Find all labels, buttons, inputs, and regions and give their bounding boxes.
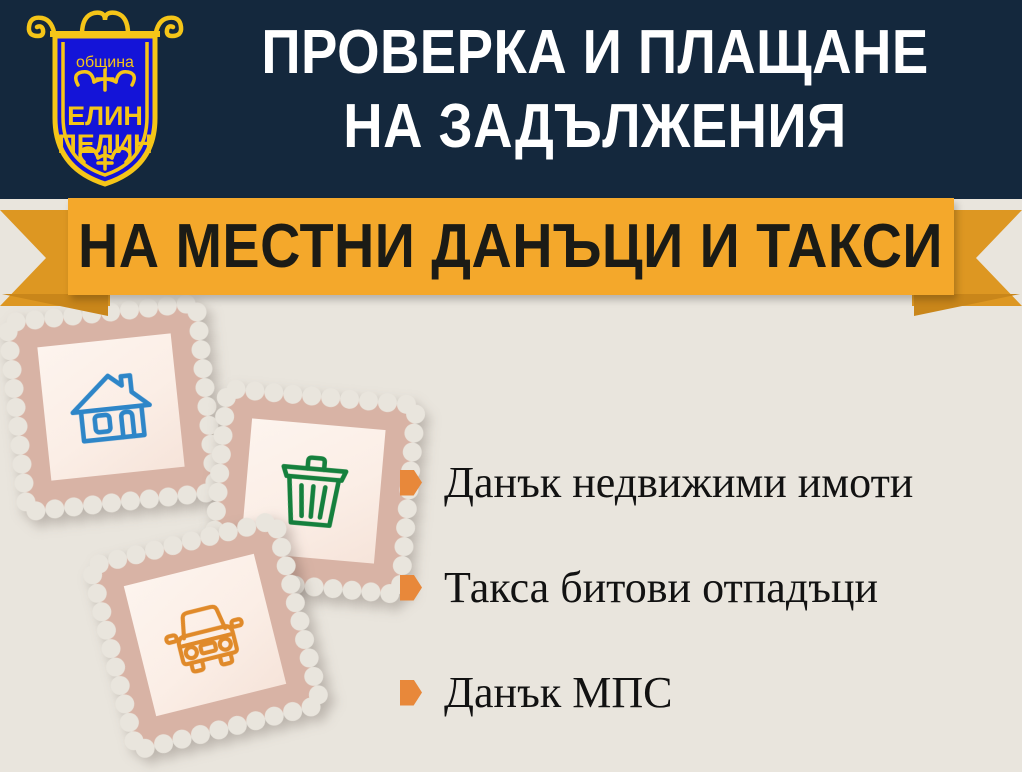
- stamp-perforation: [143, 538, 166, 561]
- list-item[interactable]: Данък недвижими имоти: [400, 430, 1010, 535]
- stamp-perforation: [288, 610, 311, 633]
- house-icon: [60, 356, 161, 457]
- stamp-perforation: [108, 674, 131, 697]
- stamp-perforation: [124, 543, 147, 566]
- stamp-perforation: [117, 711, 140, 734]
- stamp-perforation: [113, 693, 136, 716]
- stamp-perforation: [358, 390, 379, 411]
- stamp-perforation: [82, 494, 103, 515]
- stamp-perforation: [302, 385, 323, 406]
- stamp-perforation: [264, 382, 285, 403]
- arrow-bullet-icon: [400, 680, 422, 706]
- list-item[interactable]: Данък МПС: [400, 640, 1010, 745]
- arrow-bullet-icon: [400, 575, 422, 601]
- property-stamp-card: [7, 303, 216, 512]
- stamp-perforation: [104, 656, 127, 679]
- arrow-bullet-icon: [400, 470, 422, 496]
- stamp-perforation: [192, 358, 213, 379]
- stamp-perforation: [161, 534, 184, 557]
- stamp-perforation: [90, 600, 113, 623]
- ribbon-banner: НА МЕСТНИ ДАНЪЦИ И ТАКСИ: [68, 198, 954, 295]
- stamp-perforation: [139, 488, 160, 509]
- stamp-perforation: [170, 727, 193, 750]
- stamp-perforation: [342, 579, 363, 600]
- stamp-perforation: [302, 665, 325, 688]
- stamp-perforation: [226, 713, 249, 736]
- stamp-perforation: [5, 397, 26, 418]
- stamp-perforation: [3, 378, 24, 399]
- stamp-perforation: [207, 718, 230, 741]
- stamp-perforation: [216, 387, 237, 408]
- stamp-perforation: [85, 582, 108, 605]
- stamp-perforation: [158, 486, 179, 507]
- stamp-perforation: [152, 732, 175, 755]
- stamp-perforation: [194, 377, 215, 398]
- stamp-perforation: [377, 392, 398, 413]
- stamp-perforation: [9, 435, 30, 456]
- list-item-label: Данък недвижими имоти: [444, 459, 913, 507]
- header-bar: община ЕЛИН ПЕЛИН: [0, 0, 1022, 199]
- municipality-crest-logo: община ЕЛИН ПЕЛИН: [22, 6, 188, 192]
- title-line-1: ПРОВЕРКА И ПЛАЩАНЕ: [239, 16, 952, 90]
- vehicle-stamp-card: [90, 520, 320, 750]
- stamp-perforation: [0, 340, 20, 361]
- stamp-perforation: [99, 637, 122, 660]
- stamp-perforation: [177, 484, 198, 505]
- crest-name-line-1: ЕЛИН: [67, 101, 143, 131]
- poster-title: ПРОВЕРКА И ПЛАЩАНЕ НА ЗАДЪЛЖЕНИЯ: [190, 16, 1000, 164]
- stamp-perforation: [11, 454, 32, 475]
- car-icon: [149, 579, 261, 691]
- stamp-perforation: [320, 387, 341, 408]
- subtitle-ribbon: НА МЕСТНИ ДАНЪЦИ И ТАКСИ: [0, 198, 1022, 308]
- stamp-perforation: [106, 547, 129, 570]
- stamp-perforation: [120, 490, 141, 511]
- stamp-perforation: [189, 723, 212, 746]
- stamp-perforation: [244, 709, 267, 732]
- stamp-perforation: [293, 628, 316, 651]
- stamp-perforation: [13, 473, 34, 494]
- stamp-perforation: [180, 529, 203, 552]
- stamp-inner-face: [37, 333, 184, 480]
- stamp-perforation: [361, 581, 382, 602]
- ribbon-label: НА МЕСТНИ ДАНЪЦИ И ТАКСИ: [79, 216, 944, 278]
- stamp-perforation: [283, 384, 304, 405]
- stamp-perforation: [263, 704, 286, 727]
- stamp-perforation: [339, 389, 360, 410]
- stamp-perforation: [1, 359, 22, 380]
- title-line-2: НА ЗАДЪЛЖЕНИЯ: [239, 90, 952, 164]
- stamp-perforation: [304, 576, 325, 597]
- stamp-perforation: [44, 498, 65, 519]
- list-item-label: Данък МПС: [444, 669, 672, 717]
- poster-canvas: община ЕЛИН ПЕЛИН: [0, 0, 1022, 772]
- stamp-perforation: [43, 307, 64, 328]
- stamp-perforation: [94, 619, 117, 642]
- stamp-perforation: [245, 380, 266, 401]
- list-item[interactable]: Такса битови отпадъци: [400, 535, 1010, 640]
- stamp-perforation: [323, 578, 344, 599]
- stamp-perforation: [7, 416, 28, 437]
- stamp-perforation: [188, 320, 209, 341]
- stamp-perforation: [283, 591, 306, 614]
- stamp-perforation: [297, 647, 320, 670]
- stamp-perforation: [196, 396, 217, 417]
- stamp-perforation: [0, 321, 18, 342]
- stamp-perforation: [281, 700, 304, 723]
- stamp-perforation: [206, 501, 227, 522]
- stamp-perforation: [101, 492, 122, 513]
- list-item-label: Такса битови отпадъци: [444, 564, 878, 612]
- stamp-perforation: [190, 339, 211, 360]
- stamp-perforation: [24, 309, 45, 330]
- stamp-perforation: [63, 496, 84, 517]
- tax-type-list: Данък недвижими имоти Такса битови отпад…: [400, 430, 1010, 745]
